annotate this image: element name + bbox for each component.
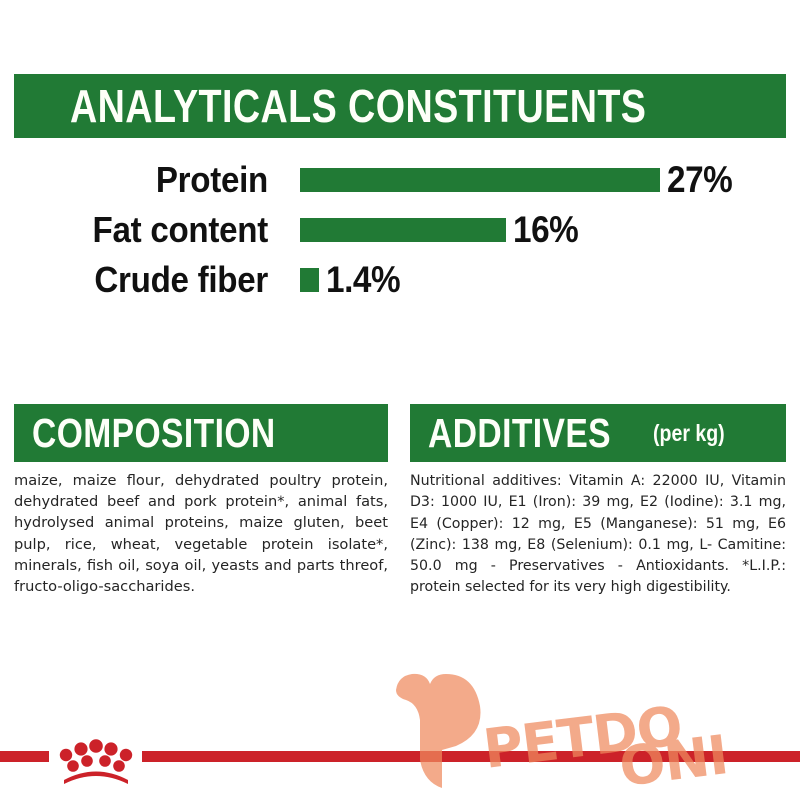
- chart-bar: [300, 268, 319, 292]
- chart-row-track: 27%: [300, 159, 800, 201]
- royal-crown-icon: [56, 725, 136, 785]
- red-rule-right: [142, 751, 800, 762]
- chart-row: Crude fiber 1.4%: [0, 255, 800, 305]
- chart-bar: [300, 168, 660, 192]
- petdooni-bird-icon: [396, 674, 481, 788]
- chart-row: Fat content 16%: [0, 205, 800, 255]
- additives-header: ADDITIVES (per kg): [410, 404, 786, 462]
- red-rule-left: [0, 751, 49, 762]
- chart-row-value: 16%: [513, 209, 578, 251]
- analyticals-constituents-title: ANALYTICALS CONSTITUENTS: [70, 83, 646, 129]
- chart-row-label: Fat content: [21, 209, 268, 251]
- composition-body: maize, maize flour, dehydrated poultry p…: [14, 470, 388, 597]
- chart-row: Protein 27%: [0, 155, 800, 205]
- additives-body: Nutritional additives: Vitamin A: 22000 …: [410, 471, 786, 599]
- chart-row-track: 1.4%: [300, 259, 800, 301]
- composition-header: COMPOSITION: [14, 404, 388, 462]
- chart-row-label: Protein: [21, 159, 268, 201]
- chart-row-value: 27%: [667, 159, 732, 201]
- additives-subtitle: (per kg): [653, 420, 725, 447]
- petdooni-wordmark-text: PETDO: [480, 694, 685, 781]
- additives-title: ADDITIVES: [428, 413, 611, 454]
- chart-row-value: 1.4%: [326, 259, 400, 301]
- composition-title: COMPOSITION: [32, 413, 276, 454]
- composition-panel: COMPOSITION maize, maize flour, dehydrat…: [14, 404, 388, 597]
- chart-row-label: Crude fiber: [21, 259, 268, 301]
- constituents-bar-chart: Protein 27% Fat content 16% Crude fiber …: [0, 155, 800, 305]
- chart-row-track: 16%: [300, 209, 800, 251]
- petdooni-watermark: PETDO ONI: [382, 660, 742, 800]
- additives-panel: ADDITIVES (per kg) Nutritional additives…: [410, 404, 786, 599]
- chart-bar: [300, 218, 506, 242]
- brand-strip: PETDO ONI: [0, 735, 800, 800]
- analyticals-constituents-header: ANALYTICALS CONSTITUENTS: [14, 74, 786, 138]
